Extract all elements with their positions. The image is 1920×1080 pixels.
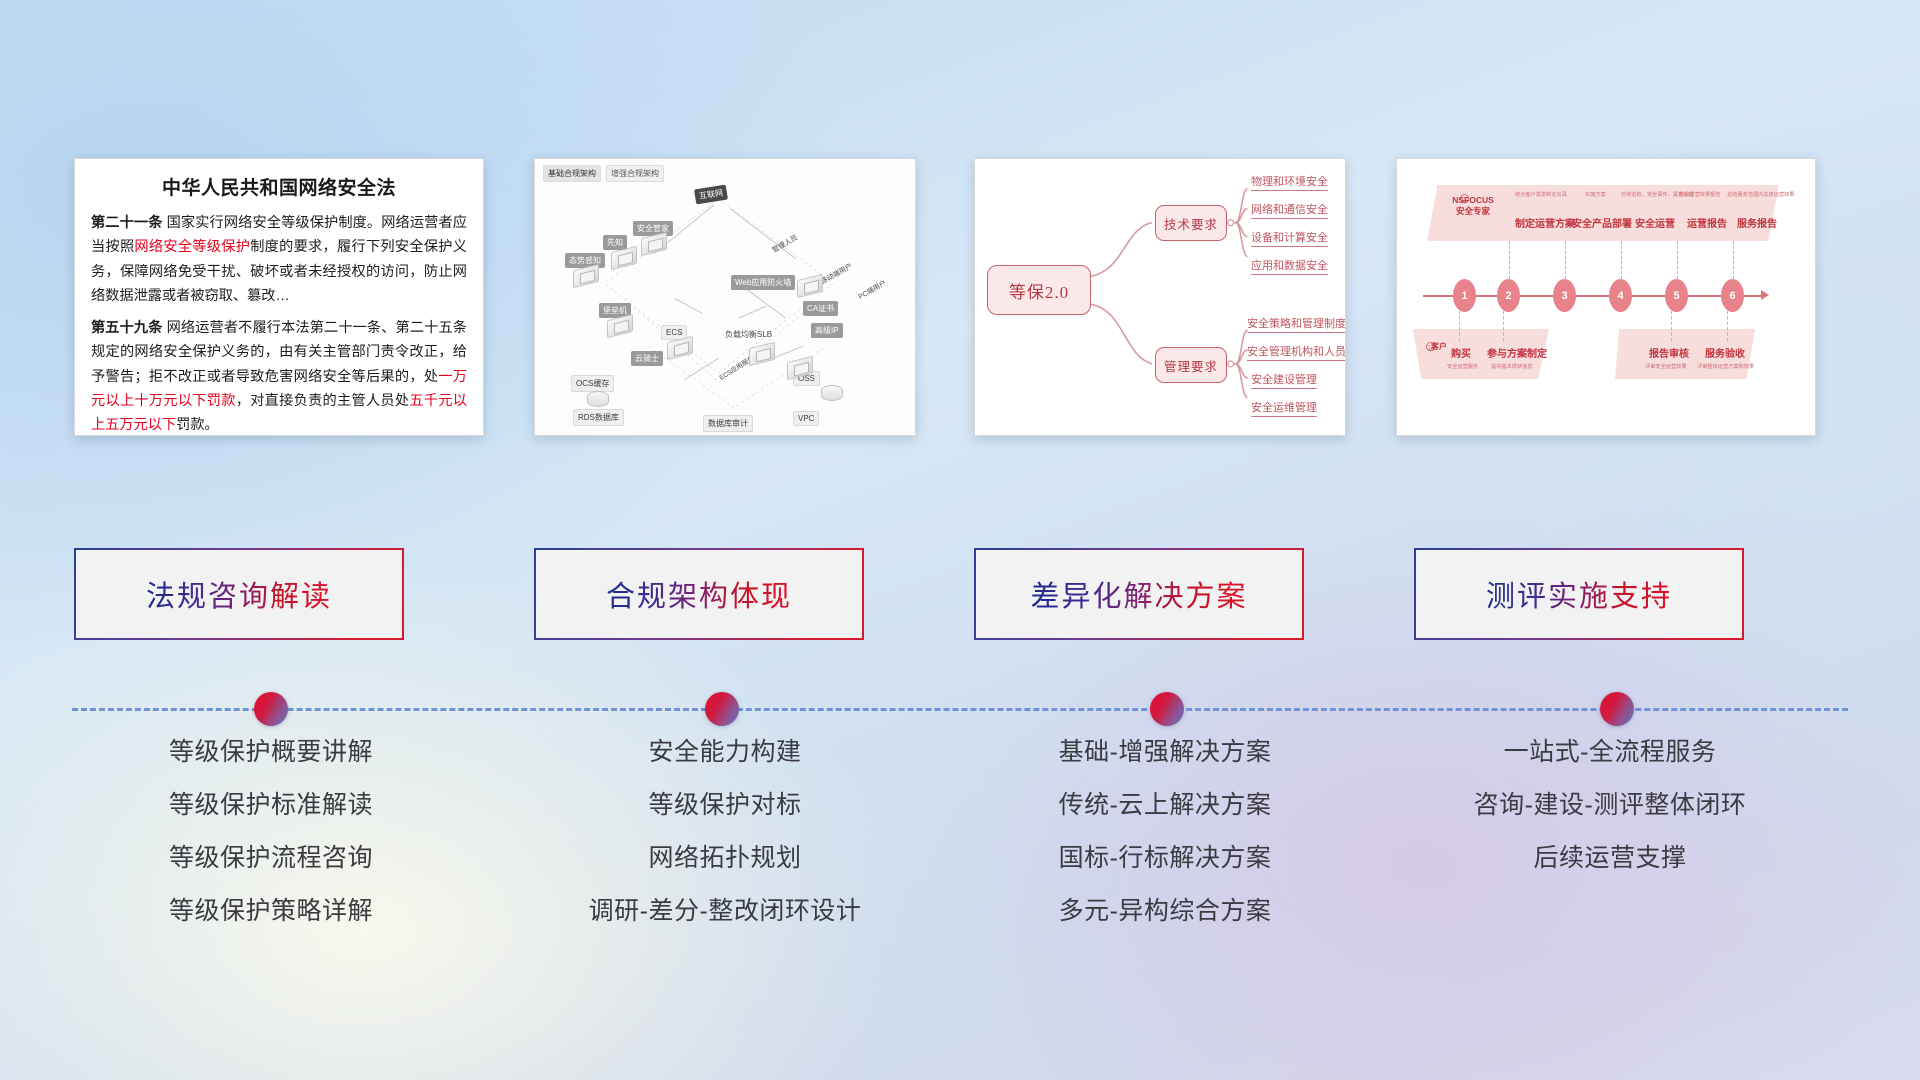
nsfocus-bottom-title-1: 购买 bbox=[1451, 345, 1471, 360]
timeline-track bbox=[0, 690, 1920, 730]
law-article-21-label: 第二十一条 bbox=[91, 215, 163, 231]
nsfocus-connector-5 bbox=[1677, 241, 1678, 279]
arch-node-ca-cert: CA证书 bbox=[803, 301, 838, 316]
timeline-dot-1[interactable] bbox=[254, 692, 288, 726]
arch-node-db-audit: 数据库审计 bbox=[703, 415, 753, 432]
law-title: 中华人民共和国网络安全法 bbox=[91, 173, 467, 200]
mindmap-leaf-tech-3[interactable]: 设备和计算安全 bbox=[1251, 229, 1328, 247]
detail-column-3: 基础-增强解决方案 传统-云上解决方案 国标-行标解决方案 多元-异构综合方案 bbox=[950, 740, 1380, 952]
arch-node-situational-awareness: 态势感知 bbox=[565, 253, 605, 268]
arch-node-vpc: VPC bbox=[793, 411, 819, 426]
nsfocus-bottom-sub-6: 评审整体运营方案和效果 bbox=[1697, 363, 1754, 370]
detail-column-4: 一站式-全流程服务 咨询-建设-测评整体闭环 后续运营支撑 bbox=[1395, 740, 1825, 899]
mindmap-leaf-mgmt-1[interactable]: 安全策略和管理制度 bbox=[1247, 315, 1346, 333]
nsfocus-top-title-6: 服务报告 bbox=[1737, 215, 1777, 230]
nsfocus-axis-arrow-icon bbox=[1761, 290, 1769, 300]
nsfocus-connector-b5 bbox=[1671, 311, 1672, 341]
list-item: 调研-差分-整改闭环设计 bbox=[510, 899, 940, 924]
nsfocus-step-dot-4[interactable]: 4 bbox=[1609, 279, 1632, 312]
list-item: 多元-异构综合方案 bbox=[950, 899, 1380, 924]
nsfocus-connector-6 bbox=[1733, 241, 1734, 279]
nsfocus-timeline-diagram: ☺ NSFOCUS 安全专家 结合客户需求制定出具 制定运营方案 实施方案 安全… bbox=[1397, 159, 1815, 435]
timeline-dot-3[interactable] bbox=[1150, 692, 1184, 726]
header-box-assessment-support[interactable]: 测评实施支持 bbox=[1414, 548, 1744, 640]
mindmap-root-node[interactable]: 等保2.0 bbox=[987, 265, 1091, 315]
nsfocus-brand: NSFOCUS 安全专家 bbox=[1441, 195, 1505, 216]
nsfocus-connector-2 bbox=[1509, 241, 1510, 279]
timeline-dashed-line bbox=[72, 708, 1848, 711]
section-headers-row: 法规咨询解读 合规架构体现 差异化解决方案 测评实施支持 bbox=[0, 548, 1920, 640]
nsfocus-connector-4 bbox=[1621, 241, 1622, 279]
nsfocus-step-dot-1[interactable]: 1 bbox=[1453, 279, 1476, 312]
list-item: 安全能力构建 bbox=[510, 740, 940, 765]
card-cloud-architecture[interactable]: 基础合规架构 增强合规架构 bbox=[534, 158, 916, 436]
mindmap-leaf-tech-2[interactable]: 网络和通信安全 bbox=[1251, 201, 1328, 219]
nsfocus-step-dot-5[interactable]: 5 bbox=[1665, 279, 1688, 312]
timeline-dot-2[interactable] bbox=[705, 692, 739, 726]
detail-lists-row: 等级保护概要讲解 等级保护标准解读 等级保护流程咨询 等级保护策略详解 安全能力… bbox=[0, 740, 1920, 1000]
mindmap-diagram: 等保2.0 技术要求 物理和环境安全 网络和通信安全 设备和计算安全 应用和数据… bbox=[975, 159, 1345, 435]
nsfocus-top-sub-5: 阶段运营效果报告 bbox=[1679, 191, 1721, 198]
arch-icon-cylinder-2 bbox=[821, 385, 843, 401]
nsfocus-bottom-sub-5: 评审安全运营效果 bbox=[1645, 363, 1687, 370]
list-item: 等级保护对标 bbox=[510, 793, 940, 818]
arch-icon-cylinder-1 bbox=[587, 391, 609, 407]
card-nsfocus-timeline[interactable]: ☺ NSFOCUS 安全专家 结合客户需求制定出具 制定运营方案 实施方案 安全… bbox=[1396, 158, 1816, 436]
header-label-2: 合规架构体现 bbox=[606, 573, 792, 615]
card-mindmap[interactable]: 等保2.0 技术要求 物理和环境安全 网络和通信安全 设备和计算安全 应用和数据… bbox=[974, 158, 1346, 436]
mindmap-leaf-mgmt-3[interactable]: 安全建设管理 bbox=[1251, 371, 1317, 389]
law-article-21: 第二十一条 国家实行网络安全等级保护制度。网络运营者应当按照网络安全等级保护制度… bbox=[91, 211, 467, 309]
nsfocus-step-dot-3[interactable]: 3 bbox=[1553, 279, 1576, 312]
nsfocus-top-title-3: 安全产品部署 bbox=[1572, 215, 1632, 230]
nsfocus-connector-b2 bbox=[1503, 311, 1504, 341]
nsfocus-bottom-title-2: 参与方案制定 bbox=[1487, 345, 1547, 360]
mindmap-leaf-mgmt-4[interactable]: 安全运维管理 bbox=[1251, 399, 1317, 417]
nsfocus-connector-b6 bbox=[1727, 311, 1728, 341]
nsfocus-top-title-4: 安全运营 bbox=[1635, 215, 1675, 230]
nsfocus-top-sub-2: 结合客户需求制定出具 bbox=[1515, 191, 1567, 198]
mindmap-leaf-tech-1[interactable]: 物理和环境安全 bbox=[1251, 173, 1328, 191]
arch-node-cloud-knight: 云骑士 bbox=[631, 351, 663, 366]
header-box-differentiated-solution[interactable]: 差异化解决方案 bbox=[974, 548, 1304, 640]
mindmap-leaf-tech-4[interactable]: 应用和数据安全 bbox=[1251, 257, 1328, 275]
nsfocus-brand-line2: 安全专家 bbox=[1441, 206, 1505, 217]
law-article-21-highlight: 网络安全等级保护 bbox=[134, 239, 250, 255]
law-article-59-text-2: ，对直接负责的主管人员处 bbox=[236, 393, 410, 409]
timeline-dot-4[interactable] bbox=[1600, 692, 1634, 726]
nsfocus-connector-3 bbox=[1565, 241, 1566, 279]
list-item: 国标-行标解决方案 bbox=[950, 846, 1380, 871]
mindmap-branch-management[interactable]: 管理要求 bbox=[1155, 347, 1227, 383]
list-item: 等级保护概要讲解 bbox=[56, 740, 486, 765]
mindmap-leaf-mgmt-2[interactable]: 安全管理机构和人员 bbox=[1247, 343, 1346, 361]
nsfocus-brand-line1: NSFOCUS bbox=[1441, 195, 1505, 206]
header-label-4: 测评实施支持 bbox=[1486, 573, 1672, 615]
arch-node-security-butler: 安全管家 bbox=[633, 221, 673, 236]
nsfocus-connector-b1 bbox=[1459, 311, 1460, 341]
header-box-compliance-architecture[interactable]: 合规架构体现 bbox=[534, 548, 864, 640]
detail-column-2: 安全能力构建 等级保护对标 网络拓扑规划 调研-差分-整改闭环设计 bbox=[510, 740, 940, 952]
header-box-regulation-consulting[interactable]: 法规咨询解读 bbox=[74, 548, 404, 640]
card-cybersecurity-law[interactable]: 中华人民共和国网络安全法 第二十一条 国家实行网络安全等级保护制度。网络运营者应… bbox=[74, 158, 484, 436]
nsfocus-bottom-sub-2: 提供基本现状信息 bbox=[1491, 363, 1533, 370]
nsfocus-bottom-title-5: 报告审核 bbox=[1649, 345, 1689, 360]
header-label-1: 法规咨询解读 bbox=[146, 573, 332, 615]
preview-cards-row: 中华人民共和国网络安全法 第二十一条 国家实行网络安全等级保护制度。网络运营者应… bbox=[0, 150, 1920, 440]
detail-column-1: 等级保护概要讲解 等级保护标准解读 等级保护流程咨询 等级保护策略详解 bbox=[56, 740, 486, 952]
arch-node-ocs-cache: OCS缓存 bbox=[571, 375, 614, 392]
nsfocus-top-title-5: 运营报告 bbox=[1687, 215, 1727, 230]
list-item: 网络拓扑规划 bbox=[510, 846, 940, 871]
list-item: 一站式-全流程服务 bbox=[1395, 740, 1825, 765]
law-article-59-text-3: 罚款。 bbox=[176, 417, 219, 433]
arch-node-xianzhi: 先知 bbox=[603, 235, 627, 250]
nsfocus-bottom-title-6: 服务验收 bbox=[1705, 345, 1745, 360]
arch-node-waf: Web应用防火墙 bbox=[731, 275, 795, 290]
mindmap-branch-technical[interactable]: 技术要求 bbox=[1155, 205, 1227, 241]
list-item: 传统-云上解决方案 bbox=[950, 793, 1380, 818]
header-label-3: 差异化解决方案 bbox=[1030, 573, 1247, 615]
list-item: 咨询-建设-测评整体闭环 bbox=[1395, 793, 1825, 818]
law-article-59-label: 第五十九条 bbox=[91, 320, 163, 336]
arch-node-anti-ddos: 高级IP bbox=[811, 323, 843, 338]
nsfocus-bottom-sub-1: 安全运营服务 bbox=[1447, 363, 1478, 370]
nsfocus-top-title-2: 制定运营方案 bbox=[1515, 215, 1575, 230]
list-item: 后续运营支撑 bbox=[1395, 846, 1825, 871]
list-item: 等级保护标准解读 bbox=[56, 793, 486, 818]
arch-node-rds-db: RDS数据库 bbox=[573, 409, 624, 426]
nsfocus-step-dot-2[interactable]: 2 bbox=[1497, 279, 1520, 312]
law-article-59: 第五十九条 网络运营者不履行本法第二十一条、第二十五条规定的网络安全保护义务的，… bbox=[91, 316, 467, 436]
architecture-diagram: 基础合规架构 增强合规架构 bbox=[535, 159, 915, 435]
nsfocus-top-sub-6: 总结服务范围内总体运营效果 bbox=[1727, 191, 1794, 198]
list-item: 基础-增强解决方案 bbox=[950, 740, 1380, 765]
nsfocus-top-sub-3: 实施方案 bbox=[1585, 191, 1606, 198]
nsfocus-step-dot-6[interactable]: 6 bbox=[1721, 279, 1744, 312]
list-item: 等级保护流程咨询 bbox=[56, 846, 486, 871]
list-item: 等级保护策略详解 bbox=[56, 899, 486, 924]
